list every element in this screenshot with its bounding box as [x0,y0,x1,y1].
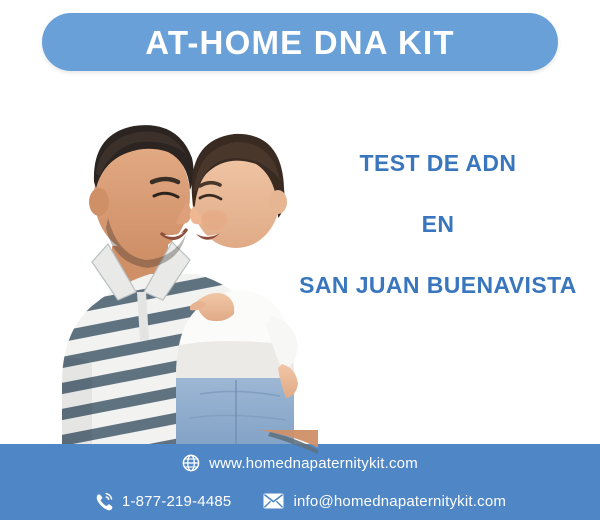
footer-website-row: www.homednapaternitykit.com [0,444,600,482]
header-banner: AT-HOME DNA KIT [42,13,558,71]
family-photo [0,78,330,460]
footer-contact-row: 1-877-219-4485 info@homednapaternitykit.… [0,482,600,520]
contact-footer: www.homednapaternitykit.com 1-877-219-44… [0,444,600,520]
email-text: info@homednapaternitykit.com [293,493,506,510]
website-text: www.homednapaternitykit.com [209,455,418,472]
banner-title: AT-HOME DNA KIT [145,26,454,59]
globe-icon [182,454,200,472]
envelope-icon [263,493,284,509]
promo-card: AT-HOME DNA KIT TEST DE ADN EN SAN JUAN … [0,0,600,520]
website-contact[interactable]: www.homednapaternitykit.com [182,454,418,472]
phone-icon [94,492,113,511]
headline-block: TEST DE ADN EN SAN JUAN BUENAVISTA [288,152,588,297]
headline-line-3: SAN JUAN BUENAVISTA [288,274,588,297]
headline-line-2: EN [288,213,588,236]
phone-text: 1-877-219-4485 [122,493,232,510]
email-contact[interactable]: info@homednapaternitykit.com [263,493,506,510]
headline-line-1: TEST DE ADN [288,152,588,175]
phone-contact[interactable]: 1-877-219-4485 [94,492,232,511]
